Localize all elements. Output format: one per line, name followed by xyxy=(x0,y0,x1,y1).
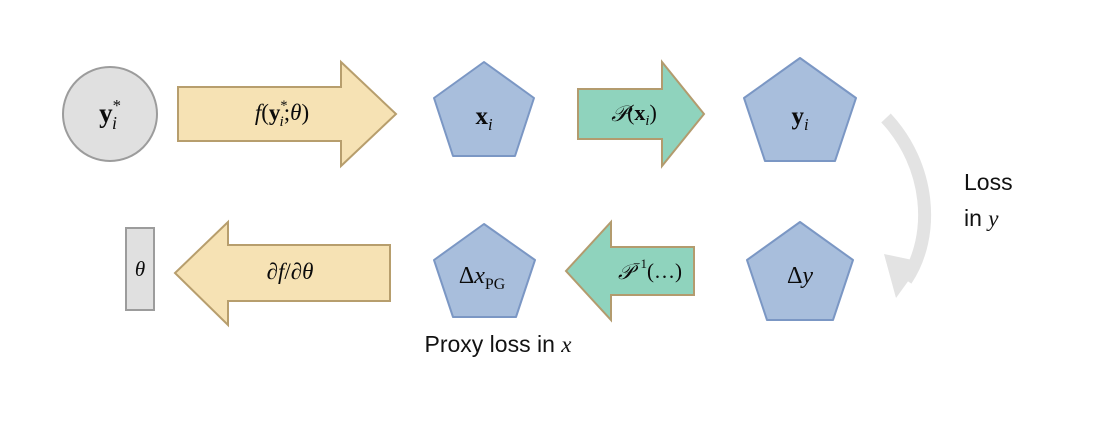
arrow-gradient-backward-label: ∂f/∂θ xyxy=(267,259,314,284)
arrow-proxy-forward-label: 𝒫(xi) xyxy=(611,100,657,129)
node-y-star: y*i xyxy=(63,67,157,161)
arrow-proxy-forward: 𝒫(xi) xyxy=(578,62,704,166)
diagram-svg: y*i f(y*i;θ) xi 𝒫(xi) xyxy=(0,0,1100,440)
loss-curved-arrow xyxy=(884,118,925,298)
node-delta-y-label: Δy xyxy=(787,263,813,289)
proxy-loss-caption: Proxy loss in x xyxy=(425,331,573,357)
diagram-canvas: y*i f(y*i;θ) xi 𝒫(xi) xyxy=(0,0,1100,440)
node-x-i: xi xyxy=(434,62,534,156)
arrow-inverse-proxy-label: 𝒫−1(…) xyxy=(618,256,682,284)
node-theta: θ xyxy=(126,228,154,310)
node-y-i: yi xyxy=(744,58,856,161)
loss-label-line2: in y xyxy=(964,205,999,231)
node-delta-y: Δy xyxy=(747,222,853,320)
node-theta-label: θ xyxy=(135,257,145,281)
arrow-gradient-backward: ∂f/∂θ xyxy=(175,222,390,325)
arrow-inverse-proxy: 𝒫−1(…) xyxy=(566,222,694,320)
loss-label-line1: Loss xyxy=(964,169,1013,195)
node-delta-x-pg: ΔxPG xyxy=(434,224,535,317)
arrow-forward-transform: f(y*i;θ) xyxy=(178,62,396,166)
